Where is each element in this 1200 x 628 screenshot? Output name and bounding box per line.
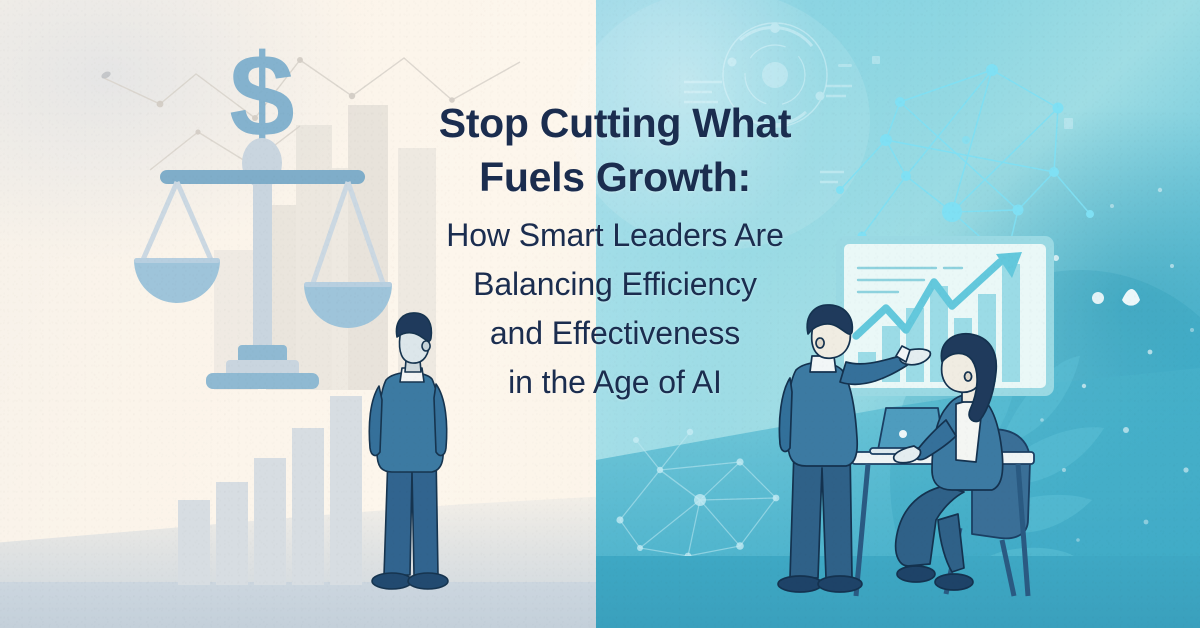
subtitle-line-3: and Effectiveness: [368, 310, 862, 357]
hero-banner: $: [0, 0, 1200, 628]
headline-block: Stop Cutting What Fuels Growth: How Smar…: [368, 96, 862, 406]
title-line-2: Fuels Growth:: [368, 150, 862, 204]
subtitle-line-4: in the Age of AI: [368, 359, 862, 406]
subtitle-line-1: How Smart Leaders Are: [368, 212, 862, 259]
subtitle-line-2: Balancing Efficiency: [368, 261, 862, 308]
title-line-1: Stop Cutting What: [368, 96, 862, 150]
